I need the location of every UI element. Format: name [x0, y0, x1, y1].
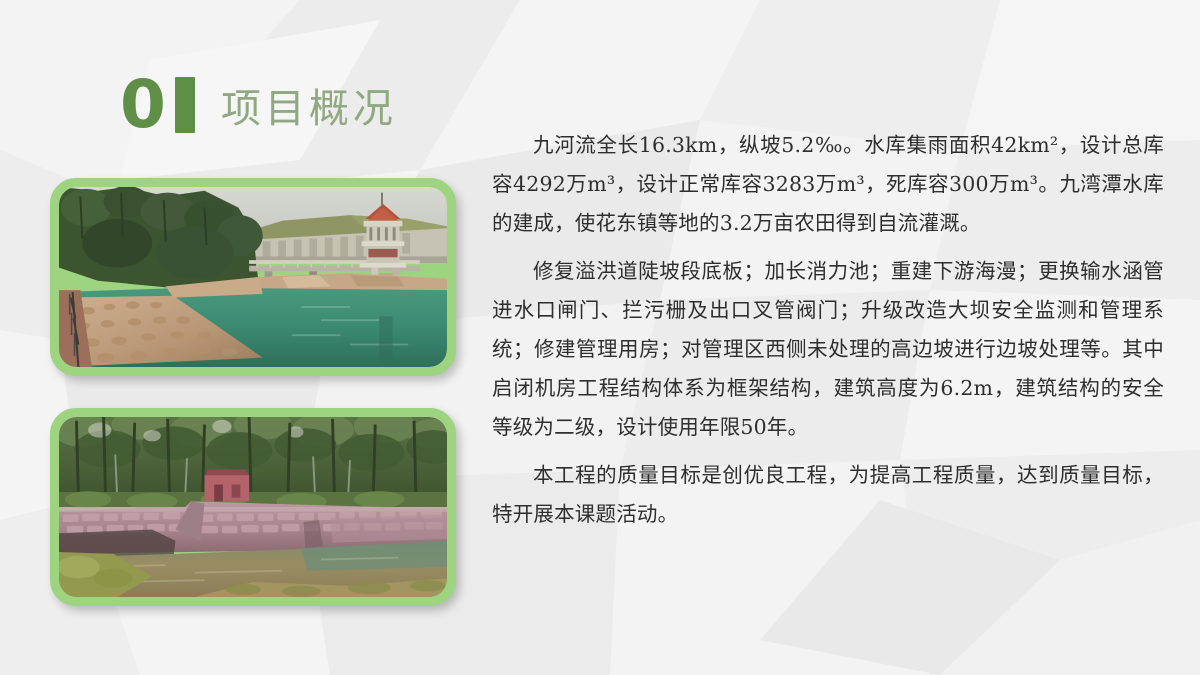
section-header: 0 项目概况: [120, 72, 397, 138]
reservoir-dam-photo: [50, 178, 456, 376]
paragraph-3: 本工程的质量目标是创优良工程，为提高工程质量，达到质量目标，特开展本课题活动。: [492, 456, 1164, 534]
spillway-illustration: [59, 417, 447, 597]
slide-root: 0 项目概况: [0, 0, 1200, 675]
photo-inner: [59, 187, 447, 367]
page-title: 项目概况: [221, 76, 397, 134]
photo-inner: [59, 417, 447, 597]
section-number-bar-icon: [175, 77, 195, 133]
paragraph-2: 修复溢洪道陡坡段底板；加长消力池；重建下游海漫；更换输水涵管进水口闸门、拦污栅及…: [492, 252, 1164, 447]
section-number: 0: [120, 72, 166, 138]
paragraph-1: 九河流全长16.3km，纵坡5.2‰。水库集雨面积42km²，设计总库容4292…: [492, 126, 1164, 243]
reservoir-dam-illustration: [59, 187, 447, 367]
body-copy: 九河流全长16.3km，纵坡5.2‰。水库集雨面积42km²，设计总库容4292…: [492, 126, 1164, 534]
spillway-stone-wall-photo: [50, 408, 456, 606]
